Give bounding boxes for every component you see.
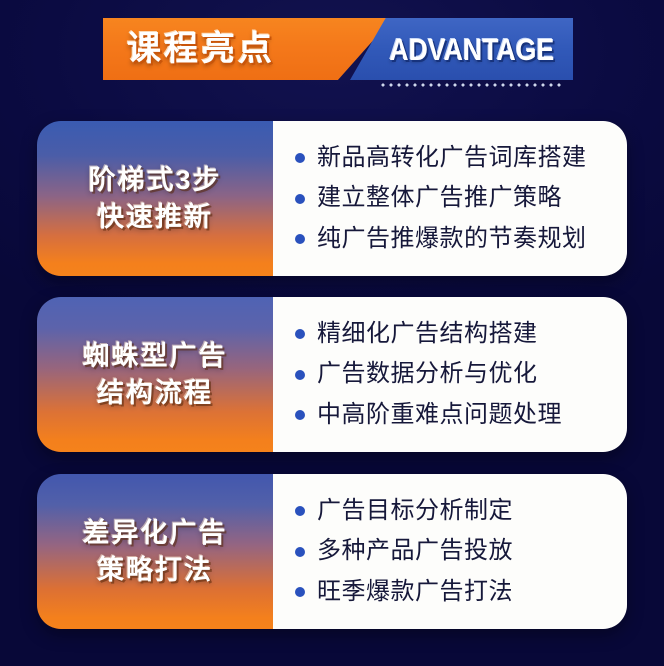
bullet-text: 多种产品广告投放 (317, 537, 513, 565)
card-title-panel: 差异化广告 策略打法 (37, 474, 273, 629)
card-title-line1: 蜘蛛型广告 (83, 338, 228, 375)
bullet-text: 中高阶重难点问题处理 (317, 401, 562, 429)
card-title-panel: 蜘蛛型广告 结构流程 (37, 297, 273, 452)
list-item: 新品高转化广告词库搭建 (295, 144, 627, 172)
list-item: 广告数据分析与优化 (295, 360, 627, 388)
bullet-dot-icon (295, 194, 305, 204)
bullet-dot-icon (295, 370, 305, 380)
card-title-line1: 差异化广告 (83, 515, 228, 552)
card-title-line1: 阶梯式3步 (88, 162, 221, 199)
bullet-text: 旺季爆款广告打法 (317, 578, 513, 606)
bullet-text: 精细化广告结构搭建 (317, 320, 538, 348)
card-bullet-panel: 新品高转化广告词库搭建 建立整体广告推广策略 纯广告推爆款的节奏规划 (273, 121, 627, 276)
bullet-dot-icon (295, 410, 305, 420)
bullet-dot-icon (295, 506, 305, 516)
list-item: 纯广告推爆款的节奏规划 (295, 225, 627, 253)
card-list: 阶梯式3步 快速推新 新品高转化广告词库搭建 建立整体广告推广策略 纯广告推爆款… (0, 0, 664, 666)
card-bullet-panel: 精细化广告结构搭建 广告数据分析与优化 中高阶重难点问题处理 (273, 297, 627, 452)
bullet-text: 新品高转化广告词库搭建 (317, 144, 587, 172)
bullet-dot-icon (295, 587, 305, 597)
card-title-panel: 阶梯式3步 快速推新 (37, 121, 273, 276)
bullet-dot-icon (295, 329, 305, 339)
bullet-text: 建立整体广告推广策略 (317, 184, 562, 212)
list-item: 建立整体广告推广策略 (295, 184, 627, 212)
bullet-text: 纯广告推爆款的节奏规划 (317, 225, 587, 253)
feature-card[interactable]: 差异化广告 策略打法 广告目标分析制定 多种产品广告投放 旺季爆款广告打法 (37, 474, 627, 629)
list-item: 精细化广告结构搭建 (295, 320, 627, 348)
card-bullet-panel: 广告目标分析制定 多种产品广告投放 旺季爆款广告打法 (273, 474, 627, 629)
card-title-line2: 策略打法 (97, 552, 213, 589)
bullet-text: 广告目标分析制定 (317, 497, 513, 525)
list-item: 旺季爆款广告打法 (295, 578, 627, 606)
list-item: 多种产品广告投放 (295, 537, 627, 565)
bullet-dot-icon (295, 547, 305, 557)
card-title-line2: 快速推新 (97, 199, 213, 236)
bullet-dot-icon (295, 234, 305, 244)
feature-card[interactable]: 蜘蛛型广告 结构流程 精细化广告结构搭建 广告数据分析与优化 中高阶重难点问题处… (37, 297, 627, 452)
list-item: 中高阶重难点问题处理 (295, 401, 627, 429)
bullet-text: 广告数据分析与优化 (317, 360, 538, 388)
card-title-line2: 结构流程 (97, 375, 213, 412)
bullet-dot-icon (295, 153, 305, 163)
list-item: 广告目标分析制定 (295, 497, 627, 525)
feature-card[interactable]: 阶梯式3步 快速推新 新品高转化广告词库搭建 建立整体广告推广策略 纯广告推爆款… (37, 121, 627, 276)
poster-root: 课程亮点 ADVANTAGE 阶梯式3步 快速推新 新品高转化广告词库搭建 建立… (0, 0, 664, 666)
